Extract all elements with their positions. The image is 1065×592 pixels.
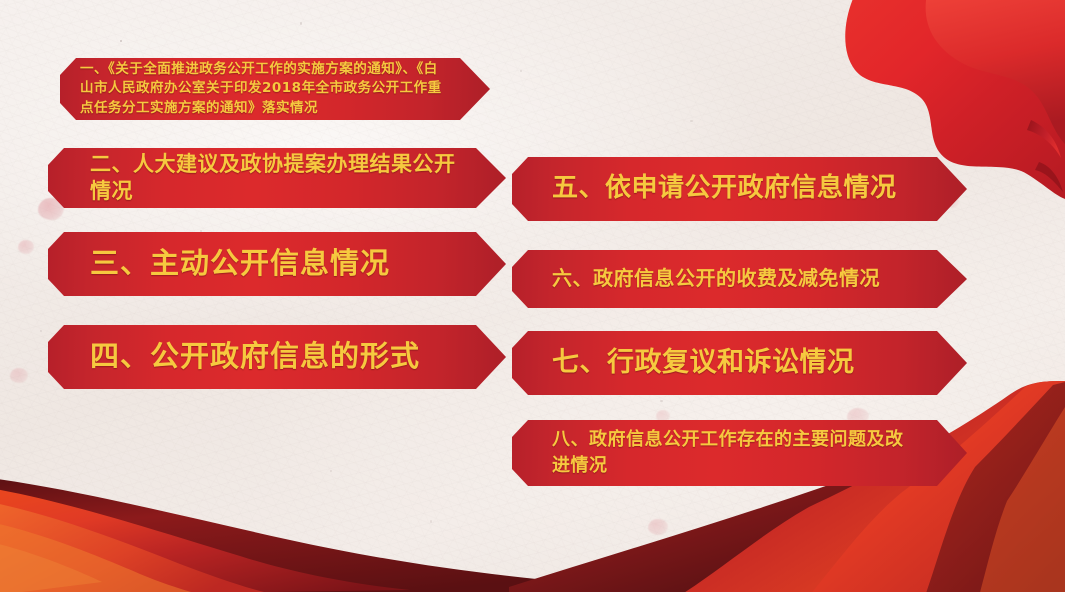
toc-item-1[interactable]: 一、《关于全面推进政务公开工作的实施方案的通知》、《白山市人民政府办公室关于印发…	[60, 58, 490, 120]
toc-item-3-label: 三、主动公开信息情况	[90, 245, 460, 282]
toc-item-2-label: 二、人大建议及政协提案办理结果公开情况	[90, 151, 460, 205]
red-silk-drape-right-icon	[509, 381, 1065, 592]
toc-item-4[interactable]: 四、公开政府信息的形式	[48, 325, 506, 389]
toc-item-2[interactable]: 二、人大建议及政协提案办理结果公开情况	[48, 148, 506, 208]
toc-item-6[interactable]: 六、政府信息公开的收费及减免情况	[512, 250, 967, 308]
toc-item-6-label: 六、政府信息公开的收费及减免情况	[552, 266, 921, 292]
toc-item-1-label: 一、《关于全面推进政务公开工作的实施方案的通知》、《白山市人民政府办公室关于印发…	[80, 60, 450, 119]
toc-item-8[interactable]: 八、政府信息公开工作存在的主要问题及改进情况	[512, 420, 967, 486]
toc-item-4-label: 四、公开政府信息的形式	[90, 338, 460, 375]
toc-item-5[interactable]: 五、依申请公开政府信息情况	[512, 157, 967, 221]
toc-item-8-label: 八、政府信息公开工作存在的主要问题及改进情况	[552, 427, 921, 479]
toc-item-7[interactable]: 七、行政复议和诉讼情况	[512, 331, 967, 395]
slide-canvas: 一、《关于全面推进政务公开工作的实施方案的通知》、《白山市人民政府办公室关于印发…	[0, 0, 1065, 592]
toc-item-7-label: 七、行政复议和诉讼情况	[552, 346, 921, 381]
toc-item-5-label: 五、依申请公开政府信息情况	[552, 172, 921, 205]
toc-item-3[interactable]: 三、主动公开信息情况	[48, 232, 506, 296]
